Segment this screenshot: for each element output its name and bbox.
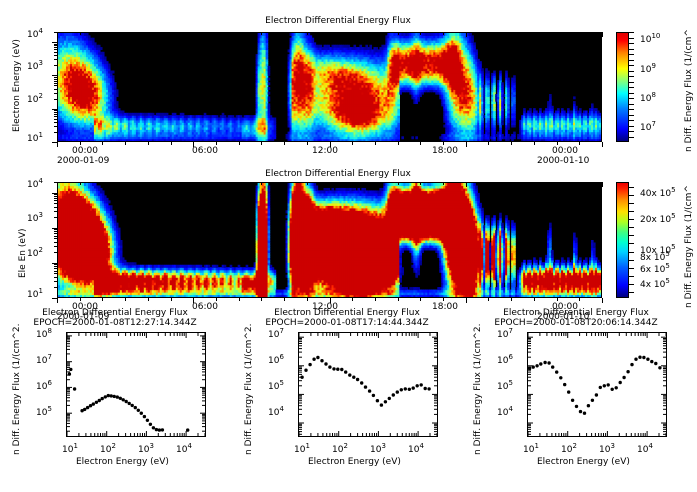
axis-tick bbox=[534, 298, 535, 301]
axis-tick bbox=[261, 182, 262, 185]
axis-tick bbox=[125, 142, 126, 145]
axis-tick bbox=[330, 142, 331, 147]
xtick-top-2: 12:00 bbox=[312, 146, 338, 156]
colorbar-tick bbox=[629, 268, 634, 269]
axis-tick bbox=[602, 298, 603, 303]
axis-tick bbox=[102, 298, 103, 301]
spectrogram-image-middle bbox=[58, 183, 601, 297]
axis-tick bbox=[54, 200, 57, 201]
axis-tick bbox=[80, 298, 81, 301]
axis-tick bbox=[54, 52, 57, 53]
axis-tick bbox=[54, 198, 57, 199]
axis-tick bbox=[52, 263, 57, 264]
axis-tick bbox=[216, 182, 217, 185]
axis-tick bbox=[54, 211, 57, 212]
axis-tick bbox=[52, 42, 57, 43]
axis-tick bbox=[54, 194, 57, 195]
colorbar-tick bbox=[629, 65, 634, 66]
spectrum-1-title: Electron Differential Energy Flux bbox=[0, 308, 235, 318]
colorbar-tick bbox=[629, 131, 634, 132]
spectrum-2-ytick-6: 106 bbox=[268, 353, 284, 366]
axis-tick bbox=[54, 264, 57, 265]
axis-tick bbox=[239, 298, 240, 301]
cbartick-top-7: 107 bbox=[640, 120, 656, 133]
colorbar-tick bbox=[629, 109, 634, 110]
axis-tick bbox=[54, 252, 57, 253]
cbartick-mid-5: 4x 105 bbox=[640, 277, 670, 290]
axis-tick bbox=[54, 55, 57, 56]
colorbar-tick bbox=[629, 32, 634, 33]
axis-tick bbox=[284, 298, 285, 301]
axis-tick bbox=[352, 142, 353, 145]
colorbar-tick bbox=[629, 126, 634, 127]
axis-tick bbox=[284, 182, 285, 185]
axis-tick bbox=[511, 182, 512, 185]
spectrum-3-ytick-4: 104 bbox=[497, 405, 513, 418]
colorbar-tick bbox=[629, 292, 634, 293]
axis-tick bbox=[52, 228, 57, 229]
colorbar-middle-label: n Diff. Energy Flux (1/(cm^ bbox=[684, 185, 694, 308]
spectrum-3-subtitle: EPOCH=2000-01-08T20:06:14.344Z bbox=[456, 318, 696, 328]
cbartick-mid-0: 40x 105 bbox=[640, 186, 676, 199]
axis-tick bbox=[352, 182, 353, 185]
axis-tick bbox=[54, 268, 57, 269]
axis-tick bbox=[54, 77, 57, 78]
colorbar-tick bbox=[629, 71, 634, 72]
panel-top-title: Electron Differential Energy Flux bbox=[188, 16, 488, 26]
axis-tick bbox=[193, 298, 194, 303]
colorbar-tick bbox=[629, 104, 634, 105]
colorbar-tick bbox=[629, 187, 634, 188]
axis-tick bbox=[54, 83, 57, 84]
spectrum-2-subtitle: EPOCH=2000-01-08T17:14:44.344Z bbox=[227, 318, 467, 328]
axis-tick bbox=[52, 75, 57, 76]
axis-tick bbox=[511, 32, 512, 35]
axis-tick bbox=[375, 182, 376, 185]
axis-tick bbox=[54, 122, 57, 123]
axis-tick bbox=[57, 142, 58, 147]
axis-tick bbox=[352, 298, 353, 301]
spectrum-2-xtick-2: 102 bbox=[332, 442, 348, 455]
axis-tick bbox=[102, 142, 103, 145]
spectrum-2-ytick-7: 107 bbox=[268, 327, 284, 340]
axis-tick bbox=[488, 142, 489, 145]
colorbar-tick bbox=[629, 38, 634, 39]
colorbar-tick bbox=[629, 49, 634, 50]
ytick-mid-4: 104 bbox=[27, 177, 43, 190]
axis-tick bbox=[307, 182, 308, 185]
axis-tick bbox=[54, 132, 57, 133]
axis-tick bbox=[557, 32, 558, 35]
axis-tick bbox=[330, 32, 331, 37]
axis-tick bbox=[307, 32, 308, 35]
axis-tick bbox=[54, 217, 57, 218]
axis-tick bbox=[54, 114, 57, 115]
axis-tick bbox=[148, 142, 149, 145]
axis-tick bbox=[193, 32, 194, 37]
panel-middle-plotarea bbox=[57, 182, 602, 298]
spectrum-1-xtick-3: 103 bbox=[138, 442, 154, 455]
axis-tick bbox=[511, 298, 512, 301]
axis-tick bbox=[54, 99, 57, 100]
axis-tick bbox=[239, 32, 240, 35]
colorbar-middle bbox=[616, 182, 629, 298]
colorbar-tick bbox=[629, 82, 634, 83]
axis-tick bbox=[54, 89, 57, 90]
axis-tick bbox=[57, 32, 58, 37]
axis-tick bbox=[171, 142, 172, 145]
axis-tick bbox=[420, 142, 421, 145]
axis-tick bbox=[54, 207, 57, 208]
spectrum-3-xlabel: Electron Energy (eV) bbox=[537, 457, 630, 467]
cbartick-mid-1: 20x 105 bbox=[640, 212, 676, 225]
ytick-top-2: 102 bbox=[27, 92, 43, 105]
axis-tick bbox=[52, 193, 57, 194]
panel-middle-spectrogram: Electron Differential Energy Flux Ele En… bbox=[0, 160, 697, 320]
axis-tick bbox=[54, 93, 57, 94]
axis-tick bbox=[193, 182, 194, 187]
axis-tick bbox=[579, 298, 580, 301]
colorbar-tick bbox=[629, 87, 634, 88]
spectrum-1-xtick-1: 101 bbox=[62, 442, 78, 455]
colorbar-top-label: n Diff. Energy Flux (1/(cm^ bbox=[684, 29, 694, 152]
cbartick-top-9: 109 bbox=[640, 62, 656, 75]
axis-tick bbox=[54, 119, 57, 120]
axis-tick bbox=[261, 142, 262, 145]
axis-tick bbox=[54, 242, 57, 243]
spectrum-3-title: Electron Differential Energy Flux bbox=[456, 308, 696, 318]
axis-tick bbox=[171, 182, 172, 185]
axis-tick bbox=[398, 32, 399, 35]
panel-top-plotarea bbox=[57, 32, 602, 142]
axis-tick bbox=[54, 79, 57, 80]
axis-tick bbox=[54, 116, 57, 117]
axis-tick bbox=[54, 196, 57, 197]
axis-tick bbox=[466, 32, 467, 37]
spectrum-3-xtick-3: 103 bbox=[599, 442, 615, 455]
spectrum-2-ytick-4: 104 bbox=[268, 405, 284, 418]
colorbar-tick bbox=[629, 260, 634, 261]
axis-tick bbox=[54, 85, 57, 86]
spectrum-1-ytick-8: 108 bbox=[36, 327, 52, 340]
axis-tick bbox=[171, 298, 172, 301]
spectrum-3-ytick-6: 106 bbox=[497, 353, 513, 366]
ytick-mid-2: 102 bbox=[27, 246, 43, 259]
axis-tick bbox=[602, 142, 603, 147]
colorbar-tick bbox=[629, 54, 634, 55]
axis-tick bbox=[54, 65, 57, 66]
colorbar-tick bbox=[629, 43, 634, 44]
colorbar-tick bbox=[629, 120, 634, 121]
spectrum-3-xtick-1: 101 bbox=[523, 442, 539, 455]
axis-tick bbox=[125, 32, 126, 35]
xtick-top-1: 06:00 bbox=[192, 146, 218, 156]
xtick-top-0: 00:00 bbox=[72, 146, 98, 156]
axis-tick bbox=[534, 142, 535, 145]
axis-tick bbox=[557, 142, 558, 145]
colorbar-top bbox=[616, 32, 629, 142]
axis-tick bbox=[102, 32, 103, 35]
spectrum-2-xtick-1: 101 bbox=[294, 442, 310, 455]
spectrum-1-xlabel: Electron Energy (eV) bbox=[76, 457, 169, 467]
spectrum-2-xtick-3: 103 bbox=[370, 442, 386, 455]
axis-tick bbox=[148, 182, 149, 185]
axis-tick bbox=[488, 182, 489, 185]
axis-tick bbox=[284, 142, 285, 145]
axis-tick bbox=[54, 81, 57, 82]
colorbar-tick bbox=[629, 76, 634, 77]
axis-tick bbox=[443, 182, 444, 185]
colorbar-tick bbox=[629, 235, 634, 236]
cbartick-top-10: 1010 bbox=[640, 32, 660, 45]
axis-tick bbox=[216, 298, 217, 301]
colorbar-tick bbox=[629, 211, 634, 212]
axis-tick bbox=[54, 45, 57, 46]
axis-tick bbox=[398, 182, 399, 185]
axis-tick bbox=[420, 298, 421, 301]
spectrum-1-ytick-7: 107 bbox=[36, 353, 52, 366]
axis-tick bbox=[102, 182, 103, 185]
axis-tick bbox=[375, 142, 376, 145]
axis-tick bbox=[57, 298, 58, 303]
axis-tick bbox=[511, 142, 512, 145]
axis-tick bbox=[80, 182, 81, 185]
ytick-mid-1: 101 bbox=[27, 287, 43, 300]
axis-tick bbox=[602, 182, 603, 187]
panel-spectrum-2: Electron Differential Energy Flux EPOCH=… bbox=[232, 305, 464, 492]
axis-tick bbox=[54, 271, 57, 272]
axis-tick bbox=[488, 298, 489, 301]
axis-tick bbox=[579, 32, 580, 35]
axis-tick bbox=[125, 182, 126, 185]
axis-tick bbox=[54, 112, 57, 113]
axis-tick bbox=[557, 298, 558, 301]
colorbar-tick bbox=[629, 276, 634, 277]
axis-tick bbox=[54, 49, 57, 50]
spectrum-3-ytick-7: 107 bbox=[497, 327, 513, 340]
axis-tick bbox=[466, 142, 467, 147]
axis-tick bbox=[284, 32, 285, 35]
axis-tick bbox=[54, 59, 57, 60]
axis-tick bbox=[54, 229, 57, 230]
axis-tick bbox=[466, 298, 467, 303]
axis-tick bbox=[54, 273, 57, 274]
spectrum-3-xtick-4: 104 bbox=[637, 442, 653, 455]
axis-tick bbox=[443, 32, 444, 35]
axis-tick bbox=[54, 246, 57, 247]
spectrum-3-ylabel: n Diff. Energy Flux (1/(cm^2. bbox=[473, 324, 483, 455]
spectrum-1-xtick-4: 104 bbox=[176, 442, 192, 455]
cbartick-top-8: 108 bbox=[640, 91, 656, 104]
axis-tick bbox=[239, 142, 240, 145]
axis-tick bbox=[54, 231, 57, 232]
axis-tick bbox=[54, 126, 57, 127]
panel-top-ylabel: Electron Energy (eV) bbox=[12, 39, 22, 132]
axis-tick bbox=[330, 182, 331, 187]
colorbar-tick bbox=[629, 227, 634, 228]
axis-tick bbox=[352, 32, 353, 35]
spectrum-2-xtick-4: 104 bbox=[408, 442, 424, 455]
spectrum-1-xtick-2: 102 bbox=[100, 442, 116, 455]
spectrum-2-points bbox=[299, 333, 437, 436]
spectrum-2-ytick-5: 105 bbox=[268, 379, 284, 392]
axis-tick bbox=[579, 182, 580, 185]
colorbar-tick bbox=[629, 93, 634, 94]
colorbar-tick bbox=[629, 195, 634, 196]
axis-tick bbox=[54, 238, 57, 239]
axis-tick bbox=[54, 203, 57, 204]
axis-tick bbox=[54, 233, 57, 234]
axis-tick bbox=[420, 32, 421, 35]
colorbar-tick bbox=[629, 219, 634, 220]
axis-tick bbox=[54, 277, 57, 278]
colorbar-tick bbox=[629, 243, 634, 244]
colorbar-tick bbox=[629, 137, 634, 138]
spectrum-2-xlabel: Electron Energy (eV) bbox=[308, 457, 401, 467]
colorbar-tick bbox=[629, 98, 634, 99]
spectrum-3-plotarea bbox=[527, 332, 667, 437]
axis-tick bbox=[579, 142, 580, 145]
axis-tick bbox=[488, 32, 489, 35]
spectrum-3-points bbox=[528, 333, 666, 436]
ytick-mid-3: 103 bbox=[27, 211, 43, 224]
spectrum-3-ytick-5: 105 bbox=[497, 379, 513, 392]
axis-tick bbox=[148, 32, 149, 35]
colorbar-gradient-middle bbox=[617, 183, 628, 297]
axis-tick bbox=[534, 182, 535, 185]
axis-tick bbox=[125, 298, 126, 301]
axis-tick bbox=[216, 32, 217, 35]
axis-tick bbox=[330, 298, 331, 303]
panel-middle-title: Electron Differential Energy Flux bbox=[188, 169, 488, 179]
spectrum-1-points bbox=[67, 333, 205, 436]
axis-tick bbox=[193, 142, 194, 147]
axis-tick bbox=[171, 32, 172, 35]
spectrum-1-ytick-6: 106 bbox=[36, 379, 52, 392]
axis-tick bbox=[466, 182, 467, 187]
axis-tick bbox=[57, 182, 58, 187]
axis-tick bbox=[261, 32, 262, 35]
spectrum-1-ytick-5: 105 bbox=[36, 405, 52, 418]
xtick-top-4: 00:00 bbox=[552, 146, 578, 156]
colorbar-gradient-top bbox=[617, 33, 628, 141]
axis-tick bbox=[54, 287, 57, 288]
cbartick-mid-4: 6x 105 bbox=[640, 262, 670, 275]
spectrum-2-title: Electron Differential Energy Flux bbox=[227, 308, 467, 318]
axis-tick bbox=[54, 236, 57, 237]
colorbar-tick bbox=[629, 252, 634, 253]
colorbar-tick bbox=[629, 203, 634, 204]
axis-tick bbox=[557, 182, 558, 185]
panel-top-spectrogram: Electron Differential Energy Flux Electr… bbox=[0, 0, 697, 165]
axis-tick bbox=[420, 182, 421, 185]
axis-tick bbox=[398, 298, 399, 301]
ytick-top-1: 101 bbox=[27, 131, 43, 144]
spectrogram-image-top bbox=[58, 33, 601, 141]
axis-tick bbox=[80, 32, 81, 35]
axis-tick bbox=[54, 266, 57, 267]
axis-tick bbox=[148, 298, 149, 301]
xtick-top-3: 18:00 bbox=[432, 146, 458, 156]
spectrum-1-plotarea bbox=[66, 332, 206, 437]
ytick-top-4: 104 bbox=[27, 27, 43, 40]
axis-tick bbox=[443, 298, 444, 301]
axis-tick bbox=[54, 47, 57, 48]
axis-tick bbox=[534, 32, 535, 35]
colorbar-tick bbox=[629, 284, 634, 285]
axis-tick bbox=[239, 182, 240, 185]
spectrum-2-ylabel: n Diff. Energy Flux (1/(cm^2. bbox=[244, 324, 254, 455]
axis-tick bbox=[54, 110, 57, 111]
colorbar-tick bbox=[629, 115, 634, 116]
axis-tick bbox=[398, 142, 399, 145]
axis-tick bbox=[80, 142, 81, 145]
axis-tick bbox=[602, 32, 603, 37]
axis-tick bbox=[307, 298, 308, 301]
axis-tick bbox=[375, 298, 376, 301]
axis-tick bbox=[54, 281, 57, 282]
panel-spectrum-1: Electron Differential Energy Flux EPOCH=… bbox=[0, 305, 232, 492]
axis-tick bbox=[307, 142, 308, 145]
axis-tick bbox=[52, 109, 57, 110]
ytick-top-3: 103 bbox=[27, 59, 43, 72]
axis-tick bbox=[54, 44, 57, 45]
colorbar-tick bbox=[629, 60, 634, 61]
panel-spectrum-3: Electron Differential Energy Flux EPOCH=… bbox=[461, 305, 697, 492]
spectrum-1-ylabel: n Diff. Energy Flux (1/(cm^2. bbox=[12, 324, 22, 455]
axis-tick bbox=[443, 142, 444, 145]
axis-tick bbox=[216, 142, 217, 145]
axis-tick bbox=[261, 298, 262, 301]
axis-tick bbox=[375, 32, 376, 35]
spectrum-2-plotarea bbox=[298, 332, 438, 437]
spectrum-3-xtick-2: 102 bbox=[561, 442, 577, 455]
